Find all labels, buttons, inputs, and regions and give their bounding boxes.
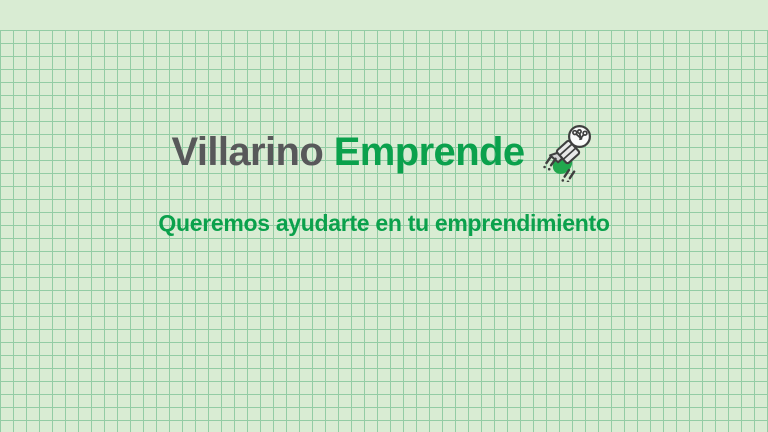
banner-title-row: Villarino Emprende [171, 122, 596, 182]
hero-banner: Villarino Emprende [0, 0, 768, 432]
lightbulb-rocket-icon [541, 122, 597, 182]
banner-content: Villarino Emprende [0, 0, 768, 432]
banner-subtitle: Queremos ayudarte en tu emprendimiento [158, 212, 609, 235]
page-title-primary: Villarino [171, 132, 323, 172]
page-title-accent: Emprende [323, 132, 524, 172]
